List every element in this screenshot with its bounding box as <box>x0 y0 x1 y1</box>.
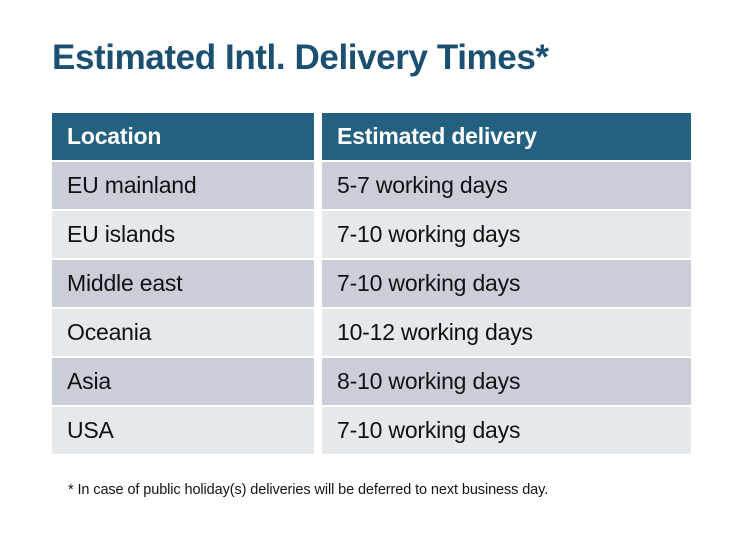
delivery-times-page: Estimated Intl. Delivery Times* Location… <box>0 0 745 536</box>
cell-estimated-delivery: 7-10 working days <box>322 260 691 307</box>
cell-location: Asia <box>52 358 314 405</box>
cell-location: Oceania <box>52 309 314 356</box>
table-row: Asia 8-10 working days <box>52 358 691 405</box>
cell-estimated-delivery: 7-10 working days <box>322 407 691 454</box>
column-header-location: Location <box>52 113 314 160</box>
table-row: Middle east 7-10 working days <box>52 260 691 307</box>
table-row: EU islands 7-10 working days <box>52 211 691 258</box>
cell-estimated-delivery: 5-7 working days <box>322 162 691 209</box>
cell-estimated-delivery: 7-10 working days <box>322 211 691 258</box>
cell-location: Middle east <box>52 260 314 307</box>
table-header-row: Location Estimated delivery <box>52 113 691 160</box>
footnote-text: * In case of public holiday(s) deliverie… <box>68 480 548 500</box>
cell-location: USA <box>52 407 314 454</box>
cell-location: EU islands <box>52 211 314 258</box>
table-row: USA 7-10 working days <box>52 407 691 454</box>
table-row: EU mainland 5-7 working days <box>52 162 691 209</box>
delivery-times-table: Location Estimated delivery EU mainland … <box>52 113 691 456</box>
page-title: Estimated Intl. Delivery Times* <box>52 36 549 80</box>
cell-estimated-delivery: 10-12 working days <box>322 309 691 356</box>
table-row: Oceania 10-12 working days <box>52 309 691 356</box>
cell-location: EU mainland <box>52 162 314 209</box>
column-header-estimated-delivery: Estimated delivery <box>322 113 691 160</box>
cell-estimated-delivery: 8-10 working days <box>322 358 691 405</box>
